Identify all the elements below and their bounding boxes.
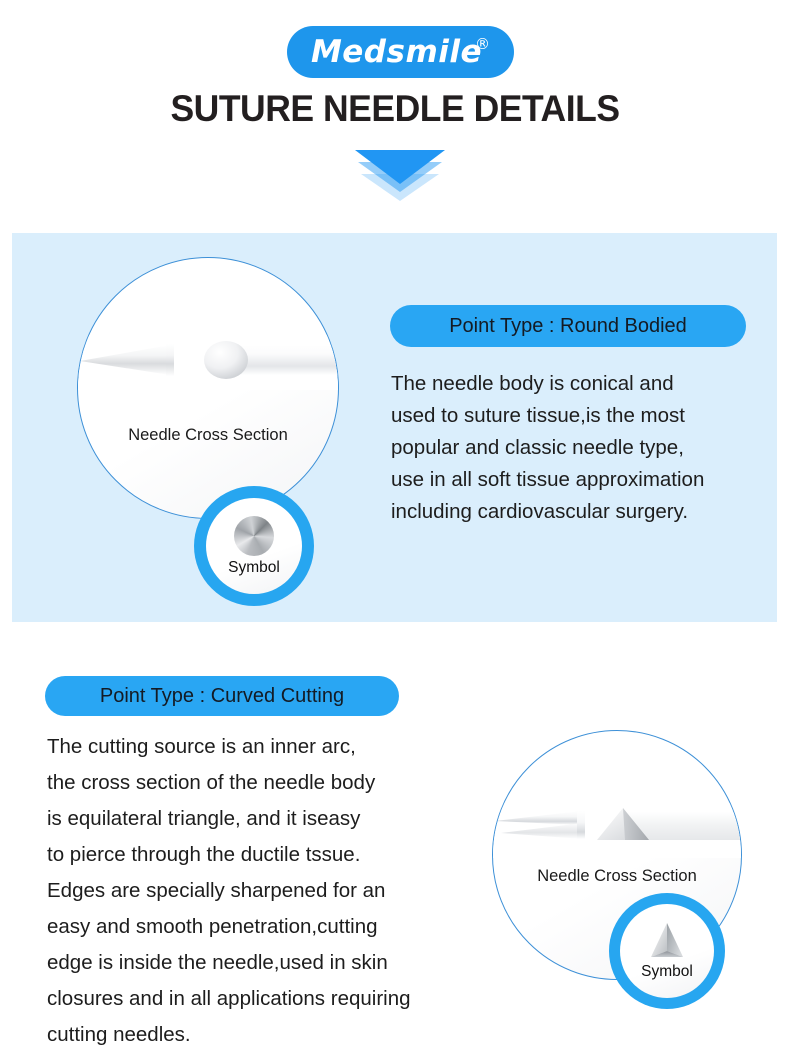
badge-label-cutting: Point Type : Curved Cutting bbox=[100, 685, 344, 708]
illustration-round-bodied: Needle Cross Section bbox=[77, 257, 339, 519]
illustration-caption-cutting: Needle Cross Section bbox=[493, 867, 741, 886]
brand-logo: Medsmile ® bbox=[287, 26, 514, 78]
symbol-caption-round: Symbol bbox=[228, 559, 280, 577]
registered-trademark-icon: ® bbox=[475, 35, 490, 53]
body-text-cutting: The cutting source is an inner arc, the … bbox=[47, 729, 497, 1053]
symbol-inner-cutting: Symbol bbox=[620, 904, 714, 998]
triangular-cutting-needle-symbol-icon bbox=[645, 921, 689, 961]
illustration-caption-round: Needle Cross Section bbox=[78, 426, 338, 445]
conical-needle-tip-icon bbox=[78, 335, 339, 390]
page-header: Medsmile ® SUTURE NEEDLE DETAILS bbox=[0, 0, 790, 225]
round-bodied-needle-symbol-icon bbox=[234, 516, 274, 556]
chevron-layer-front bbox=[355, 150, 445, 184]
needle-graphic-cutting bbox=[493, 803, 741, 858]
symbol-bubble-cutting: Symbol bbox=[609, 893, 725, 1009]
badge-point-type-round: Point Type : Round Bodied bbox=[390, 305, 746, 347]
needle-graphic-round bbox=[78, 335, 338, 390]
badge-point-type-cutting: Point Type : Curved Cutting bbox=[45, 676, 399, 716]
triangular-cutting-needle-tip-icon bbox=[493, 803, 742, 858]
brand-logo-text: Medsmile bbox=[311, 37, 482, 68]
chevron-down-triple-icon bbox=[355, 150, 445, 208]
badge-label-round: Point Type : Round Bodied bbox=[449, 315, 687, 338]
symbol-bubble-round: Symbol bbox=[194, 486, 314, 606]
symbol-inner-round: Symbol bbox=[206, 498, 302, 594]
symbol-caption-cutting: Symbol bbox=[641, 963, 693, 981]
body-text-round: The needle body is conical and used to s… bbox=[391, 368, 771, 528]
page-title: SUTURE NEEDLE DETAILS bbox=[16, 88, 774, 130]
